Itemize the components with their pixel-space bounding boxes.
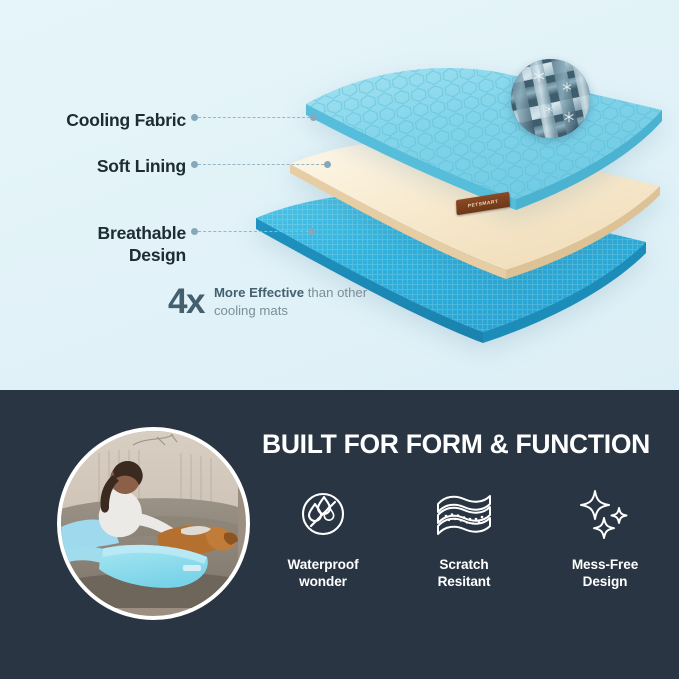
brand-tag-text: PETSMART <box>468 198 499 208</box>
feature-mess-free: Mess-Free Design <box>544 485 666 591</box>
sparkles-icon <box>578 485 632 543</box>
leader-dot-start <box>191 114 198 121</box>
feature-label-scratch-resistant: Scratch Resitant <box>438 557 491 591</box>
leader-dash <box>198 117 310 118</box>
leader-dot-end <box>324 161 331 168</box>
leader-dash <box>198 231 308 232</box>
claim-multiplier: 4x <box>168 284 204 319</box>
callout-label-breathable-design: Breathable Design <box>10 222 186 267</box>
layers-section: PETSMART <box>0 0 679 390</box>
leader-line-breathable-design <box>191 228 315 235</box>
section-headline: BUILT FOR FORM & FUNCTION <box>262 430 662 459</box>
scratch-resistant-icon <box>435 485 493 543</box>
feature-label-waterproof: Waterproof wonder <box>288 557 359 591</box>
callout-label-soft-lining: Soft Lining <box>10 155 186 177</box>
claim-text: More Effective than other cooling mats <box>214 284 382 319</box>
effectiveness-claim: 4x More Effective than other cooling mat… <box>168 284 382 319</box>
feature-scratch-resistant: Scratch Resitant <box>403 485 525 591</box>
fabric-zoom-inset <box>511 59 590 138</box>
lifestyle-photo <box>57 427 250 620</box>
product-infographic: PETSMART <box>0 0 679 679</box>
feature-waterproof: Waterproof wonder <box>262 485 384 591</box>
callout-label-cooling-fabric: Cooling Fabric <box>10 109 186 131</box>
leader-line-cooling-fabric <box>191 114 317 121</box>
features-section: BUILT FOR FORM & FUNCTION Waterproof won… <box>0 390 679 679</box>
feature-list: Waterproof wonder <box>262 485 666 591</box>
leader-dash <box>198 164 324 165</box>
feature-label-mess-free: Mess-Free Design <box>572 557 638 591</box>
waterproof-icon <box>298 485 348 543</box>
leader-dot-start <box>191 161 198 168</box>
leader-line-soft-lining <box>191 161 331 168</box>
leader-dot-end <box>310 114 317 121</box>
claim-emphasis: More Effective <box>214 285 304 300</box>
leader-dot-start <box>191 228 198 235</box>
leader-dot-end <box>308 228 315 235</box>
